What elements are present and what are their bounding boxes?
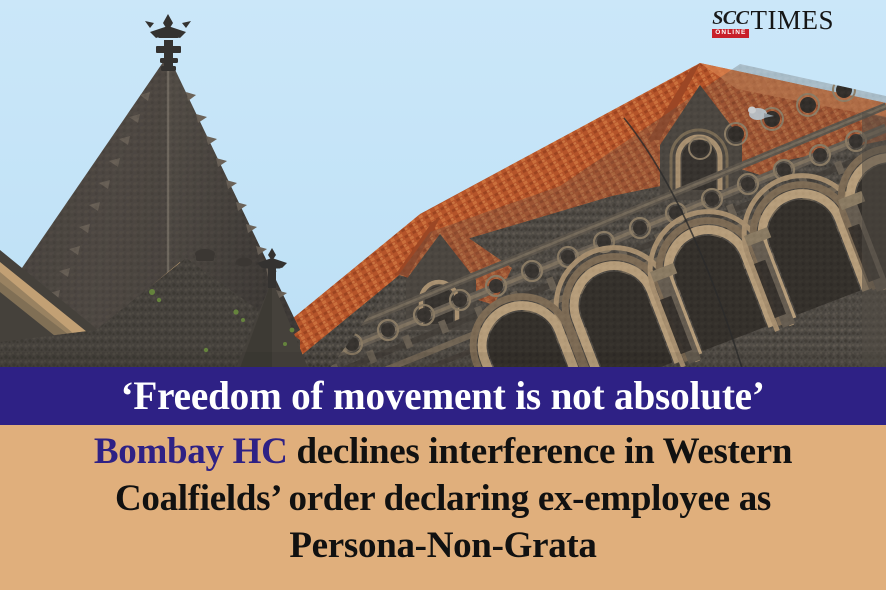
online-badge: ONLINE <box>712 29 748 38</box>
times-wordmark: TIMES <box>751 7 835 34</box>
news-poster: SCC ONLINE TIMES ‘Freedom of movement is… <box>0 0 886 590</box>
subheadline-banner: Bombay HC declines interference in Weste… <box>0 425 886 590</box>
headline-banner: ‘Freedom of movement is not absolute’ <box>0 367 886 425</box>
subheadline-line-2: Coalfields’ order declaring ex-employee … <box>0 480 886 517</box>
building-illustration <box>0 0 886 368</box>
subheadline-line-1: Bombay HC declines interference in Weste… <box>0 433 886 470</box>
scc-online-times-logo[interactable]: SCC ONLINE TIMES <box>712 8 834 38</box>
court-name-accent: Bombay HC <box>94 431 288 472</box>
bombay-high-court-building-photo: SCC ONLINE TIMES <box>0 0 886 368</box>
scc-online-mark: SCC ONLINE <box>712 8 748 38</box>
headline-text: ‘Freedom of movement is not absolute’ <box>121 376 765 416</box>
scc-wordmark: SCC <box>712 9 748 28</box>
subheadline-line-1-rest: declines interference in Western <box>288 431 793 472</box>
subheadline-line-3: Persona-Non-Grata <box>0 527 886 564</box>
